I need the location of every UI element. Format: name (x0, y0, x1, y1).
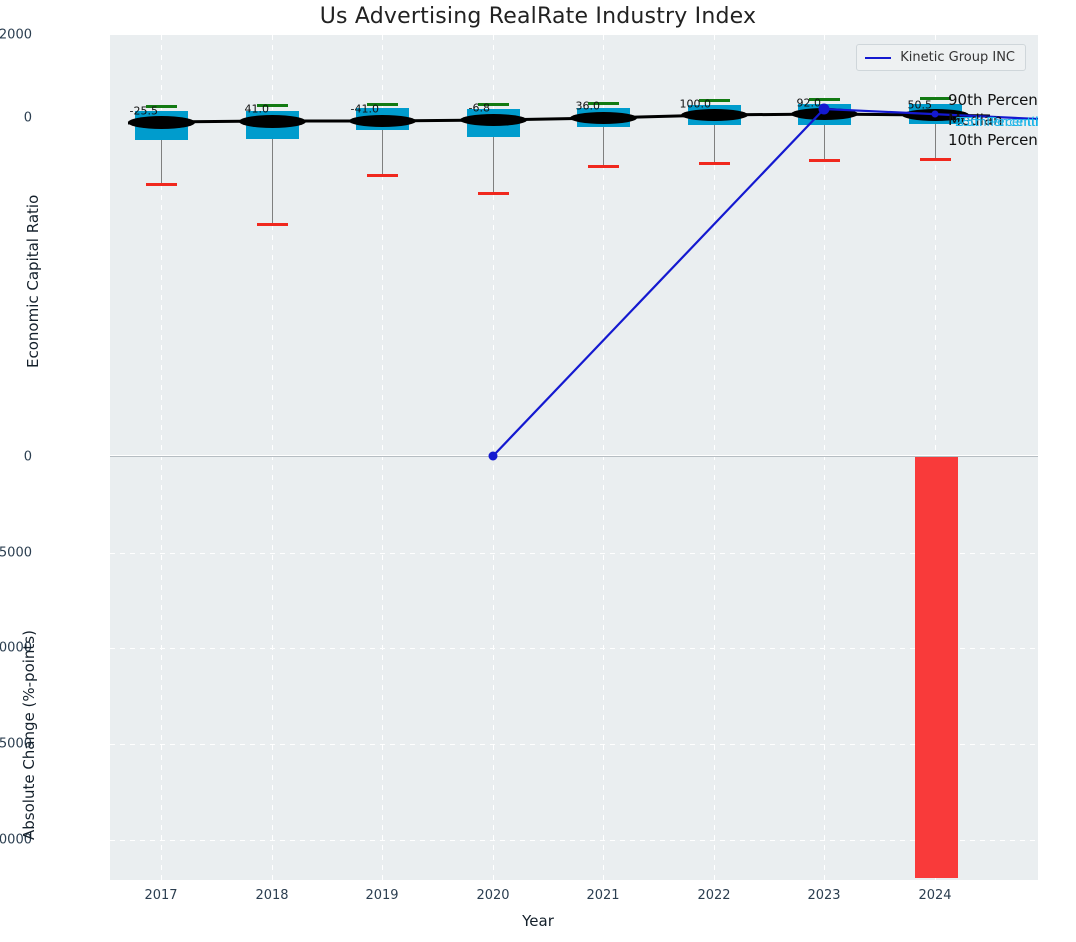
legend-swatch-kinetic-group-inc (865, 57, 891, 59)
kinetic-group-line (493, 109, 1038, 456)
legend-label-kinetic-group-inc: Kinetic Group INC (900, 50, 1015, 65)
x-axis-label: Year (0, 912, 1076, 930)
median-label-2020: -6.8 (469, 102, 490, 115)
annotation-25th-percentile: 25th Percentile (955, 115, 1038, 129)
series-overlay (110, 35, 1038, 880)
x-axis-tick-2019: 2019 (365, 888, 398, 903)
kinetic-marker-2020 (489, 452, 498, 461)
x-axis-tick-2024: 2024 (918, 888, 951, 903)
median-label-2022: 100.0 (680, 98, 712, 111)
y-axis-right-tick-0: 0 (0, 457, 32, 472)
x-axis-tick-2018: 2018 (255, 888, 288, 903)
median-label-2018: 41.0 (245, 103, 270, 116)
x-axis-tick-2023: 2023 (807, 888, 840, 903)
page-title: Us Advertising RealRate Industry Index (0, 4, 1076, 29)
legend[interactable]: Kinetic Group INC (856, 44, 1026, 71)
x-axis-tick-2017: 2017 (144, 888, 177, 903)
median-label-2019: -41.0 (351, 103, 379, 116)
y-axis-right-tick--5000: −5000 (0, 553, 32, 568)
y-axis-left-tick-0: 0 (0, 118, 32, 133)
absolute-change-bar-2024 (915, 457, 958, 878)
median-label-2024: 50.5 (908, 99, 933, 112)
plot-area: -25.5 41.0 -41.0 -6.8 36.0 100.0 92.0 50… (110, 35, 1038, 880)
median-label-2021: 36.0 (576, 100, 601, 113)
y-axis-right-label: Absolute Change (%-points) (20, 630, 38, 840)
y-axis-left-label: Economic Capital Ratio (24, 195, 42, 368)
chart-root: Us Advertising RealRate Industry Index 2… (0, 0, 1076, 942)
x-axis-tick-2021: 2021 (586, 888, 619, 903)
median-label-2017: -25.5 (130, 105, 158, 118)
y-axis-right-tick--20000: −20000 (0, 840, 32, 855)
annotation-10th-percentile: 10th Percentile (948, 131, 1038, 149)
x-axis-tick-2020: 2020 (476, 888, 509, 903)
y-axis-left-tick-2000: 2000 (0, 35, 32, 50)
annotation-90th-percentile: 90th Percentile (948, 91, 1038, 109)
median-label-2023: 92.0 (797, 97, 822, 110)
kinetic-marker-2024 (932, 111, 939, 118)
x-axis-tick-2022: 2022 (697, 888, 730, 903)
